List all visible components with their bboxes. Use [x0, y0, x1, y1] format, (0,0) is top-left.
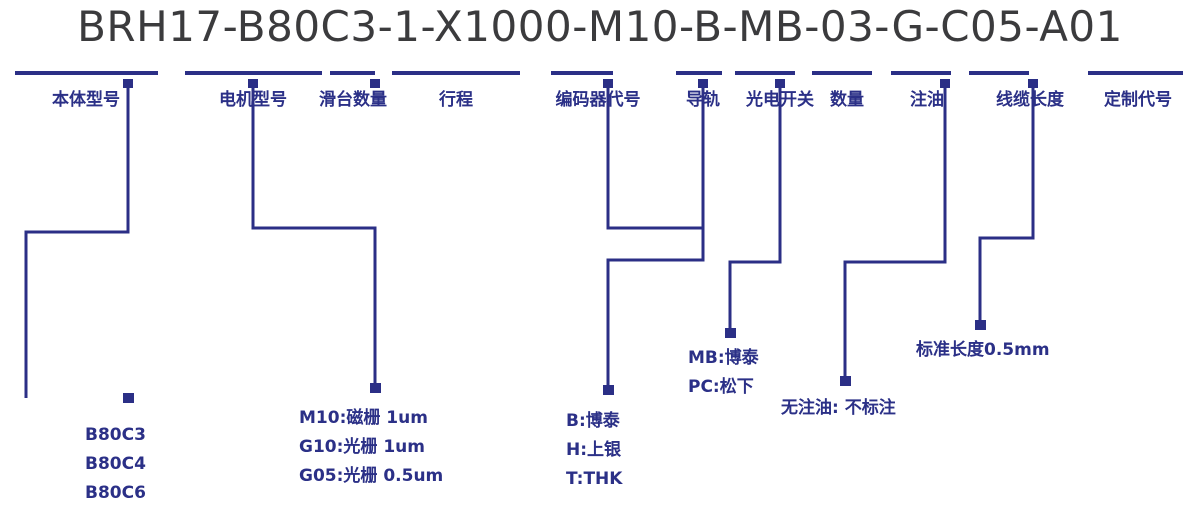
leader-endpoint-encoder-code [603, 385, 614, 395]
segment-underline-9 [969, 71, 1029, 75]
callout-value-motor-model-1: G10:光栅 1um [299, 433, 443, 462]
callout-value-body-model-1: B80C4 [85, 450, 146, 479]
segment-underline-0 [15, 71, 158, 75]
callout-value-cable-length-0: 标准长度0.5mm [916, 336, 1050, 365]
callout-value-oil-injection-0: 无注油: 不标注 [781, 394, 896, 423]
leader-cable [980, 84, 1033, 325]
segment-underline-6 [735, 71, 795, 75]
segment-underline-1 [185, 71, 322, 75]
segment-underline-10 [1088, 71, 1183, 75]
callout-photo-switch: MB:博泰PC:松下 [688, 344, 759, 402]
model-number-breakdown-diagram: BRH17-B80C3-1-X1000-M10-B-MB-03-G-C05-A0… [0, 0, 1200, 514]
leader-body-model [26, 84, 128, 398]
callout-value-motor-model-0: M10:磁栅 1um [299, 404, 443, 433]
leader-endpoint-cable-length [975, 320, 986, 330]
model-number-title: BRH17-B80C3-1-X1000-M10-B-MB-03-G-C05-A0… [0, 2, 1200, 51]
callout-body-model: B80C3B80C4B80C6 [85, 421, 146, 508]
field-label-10: 定制代号 [1038, 85, 1200, 110]
segment-underline-3 [392, 71, 520, 75]
callout-value-body-model-2: B80C6 [85, 479, 146, 508]
callout-motor-model: M10:磁栅 1umG10:光栅 1umG05:光栅 0.5um [299, 404, 443, 491]
callout-encoder-code: B:博泰H:上银T:THK [566, 407, 622, 494]
segment-underline-4 [551, 71, 613, 75]
callout-value-body-model-0: B80C3 [85, 421, 146, 450]
segment-underline-5 [676, 71, 722, 75]
segment-underline-8 [891, 71, 951, 75]
callout-value-encoder-code-1: H:上银 [566, 436, 622, 465]
segment-underline-7 [812, 71, 872, 75]
leader-endpoint-motor-model [370, 383, 381, 393]
leader-endpoint-oil-injection [840, 376, 851, 386]
segment-underline-2 [330, 71, 375, 75]
callout-oil-injection: 无注油: 不标注 [781, 394, 896, 423]
leader-endpoint-photo-switch [725, 328, 736, 338]
callout-cable-length: 标准长度0.5mm [916, 336, 1050, 365]
leader-endpoint-body-model [123, 393, 134, 403]
callout-value-photo-switch-1: PC:松下 [688, 373, 759, 402]
callout-value-photo-switch-0: MB:博泰 [688, 344, 759, 373]
callout-value-encoder-code-0: B:博泰 [566, 407, 622, 436]
callout-value-encoder-code-2: T:THK [566, 465, 622, 494]
callout-value-motor-model-2: G05:光栅 0.5um [299, 462, 443, 491]
leader-motor-model [253, 84, 375, 388]
leader-photo-switch [730, 84, 780, 333]
